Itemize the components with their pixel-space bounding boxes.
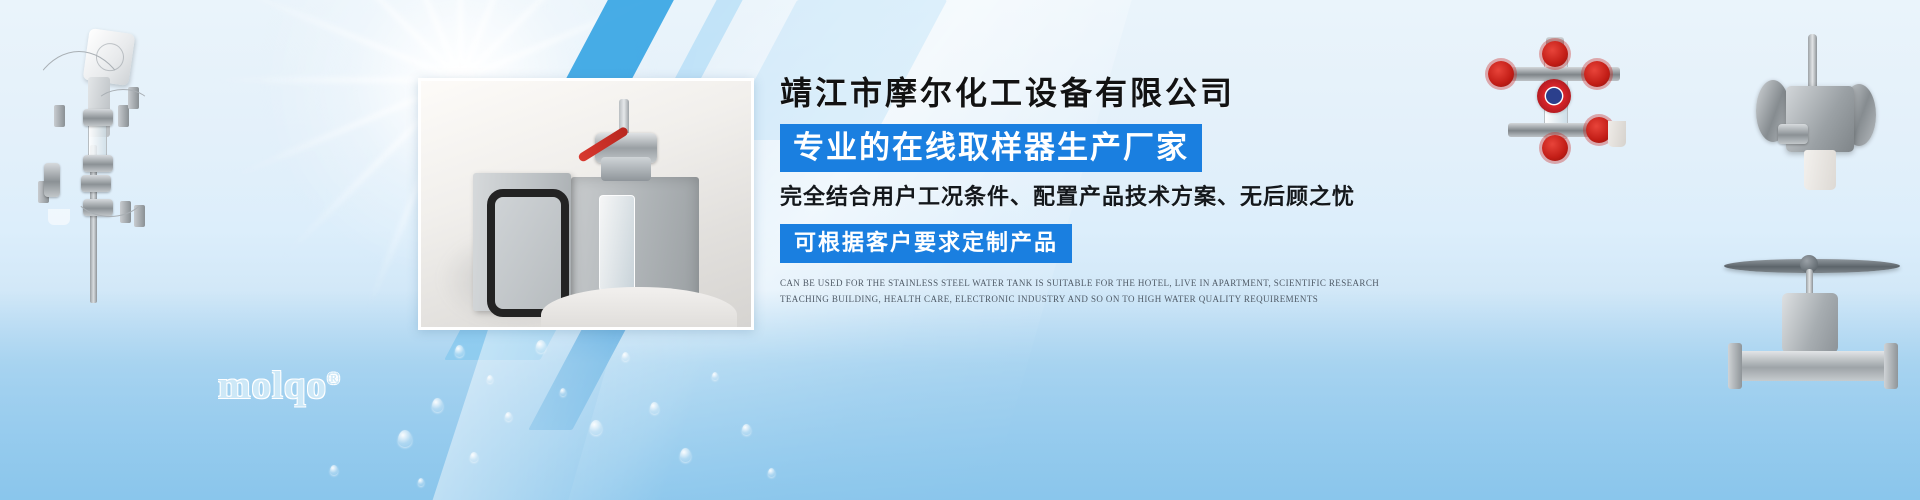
promotional-banner: 靖江市摩尔化工设备有限公司 专业的在线取样器生产厂家 完全结合用户工况条件、配置… xyxy=(0,0,1920,500)
water-droplet xyxy=(487,375,493,383)
water-droplet xyxy=(418,478,424,486)
brand-watermark: molqo® xyxy=(218,363,341,408)
sample-bottle xyxy=(599,195,635,293)
pipe-end-flange xyxy=(1884,343,1898,389)
water-droplet xyxy=(560,388,566,396)
cross-sampler-device-image xyxy=(1480,35,1640,155)
banner-text-block: 靖江市摩尔化工设备有限公司 专业的在线取样器生产厂家 完全结合用户工况条件、配置… xyxy=(780,76,1400,308)
red-handwheel xyxy=(1488,61,1514,87)
water-droplet xyxy=(536,340,546,353)
secondary-tagline: 完全结合用户工况条件、配置产品技术方案、无后顾之忧 xyxy=(780,184,1400,210)
door-window xyxy=(487,189,569,317)
english-description: CAN BE USED FOR THE STAINLESS STEEL WATE… xyxy=(780,275,1380,308)
company-name: 靖江市摩尔化工设备有限公司 xyxy=(780,76,1400,111)
water-droplet xyxy=(680,448,691,462)
sample-cup xyxy=(48,209,70,225)
brand-seal-badge xyxy=(1537,79,1571,113)
red-handwheel xyxy=(1542,135,1568,161)
valve-bonnet xyxy=(1782,293,1838,353)
valve-body-pipe xyxy=(1736,351,1888,381)
water-droplet xyxy=(432,398,443,412)
pipe-end-flange xyxy=(1728,343,1742,389)
water-droplet xyxy=(742,424,751,435)
water-droplet xyxy=(398,430,412,447)
valve-lower-disc xyxy=(601,157,651,181)
drain-outlet xyxy=(1608,121,1626,147)
sampling-valve-assembly xyxy=(589,99,663,181)
customization-tagline-badge: 可根据客户要求定制产品 xyxy=(780,224,1072,263)
left-sampler-device-image xyxy=(8,25,158,300)
cabinet-door xyxy=(473,173,571,311)
red-handwheel xyxy=(1584,61,1610,87)
water-droplet xyxy=(590,420,602,435)
tubing-loop xyxy=(94,89,152,127)
water-droplet xyxy=(455,345,464,357)
water-droplet xyxy=(650,402,659,414)
primary-tagline-badge: 专业的在线取样器生产厂家 xyxy=(780,124,1202,172)
water-droplet xyxy=(330,465,338,475)
product-photo xyxy=(418,78,754,330)
water-droplet xyxy=(470,452,478,462)
flanged-lever-valve-image xyxy=(1738,28,1908,218)
water-droplet xyxy=(622,352,629,361)
gate-valve-image xyxy=(1712,235,1912,410)
sample-cup xyxy=(1804,150,1836,190)
tubing-loop xyxy=(70,153,150,217)
watermark-text: molqo xyxy=(218,364,327,407)
water-droplet xyxy=(712,372,718,380)
water-droplet xyxy=(505,412,512,421)
photo-background xyxy=(421,81,751,327)
water-droplet xyxy=(768,468,775,477)
registered-mark-icon: ® xyxy=(327,369,341,388)
side-port xyxy=(1778,124,1808,144)
red-handwheel xyxy=(1542,41,1568,67)
